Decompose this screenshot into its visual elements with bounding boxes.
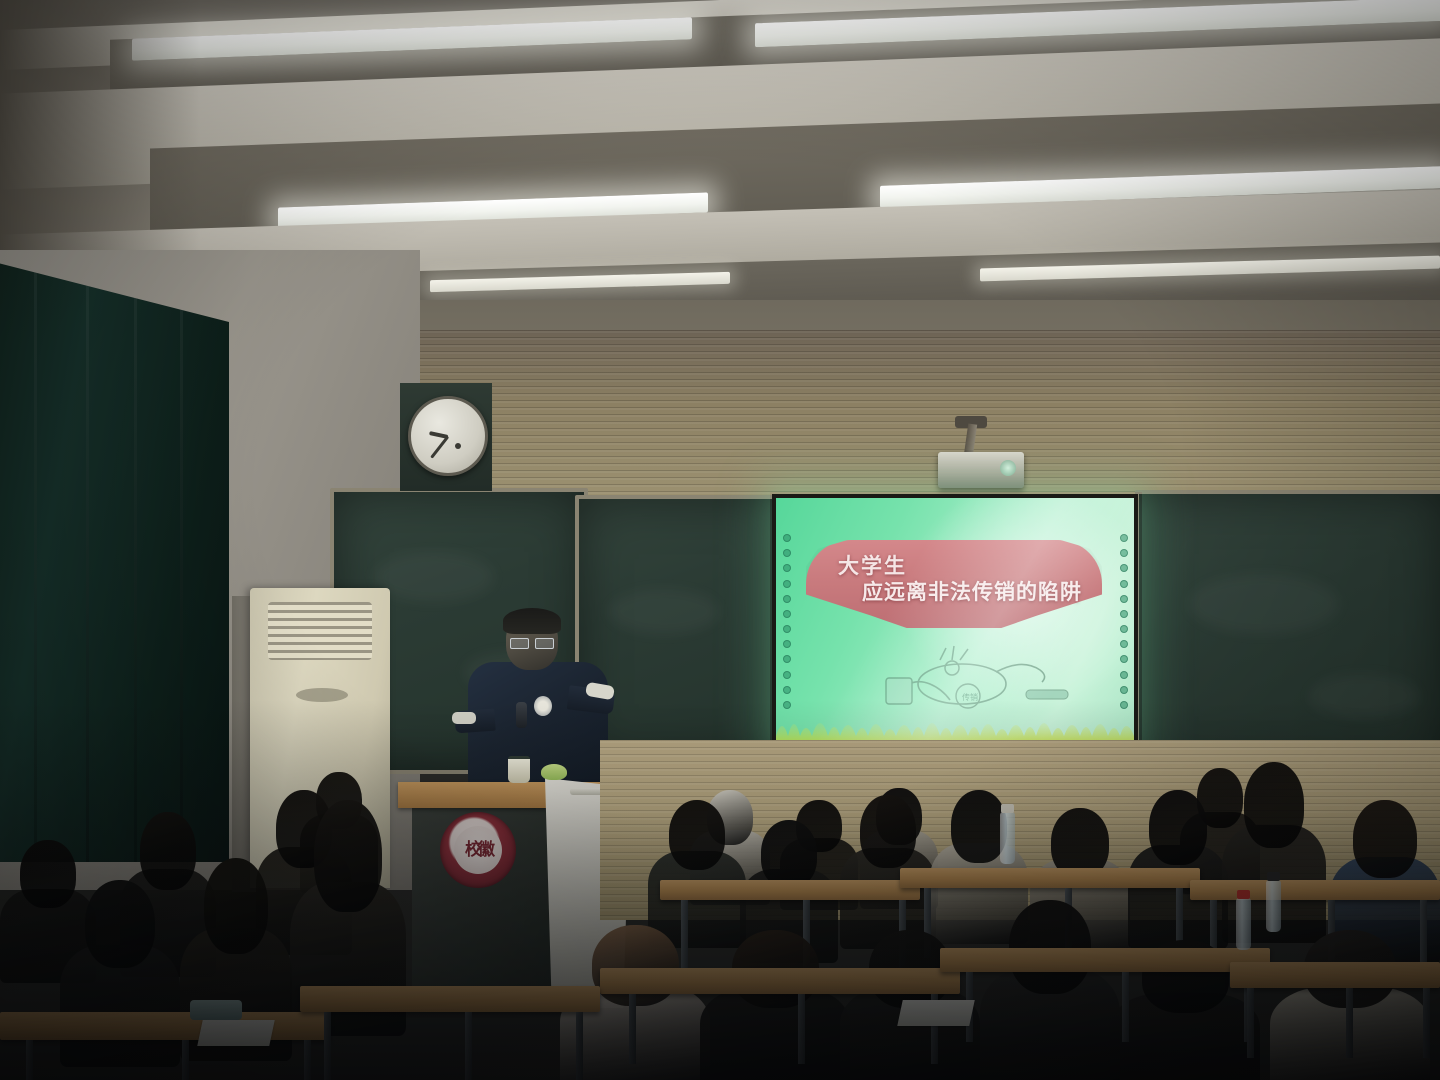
student-head (1009, 900, 1090, 994)
student-head (20, 840, 76, 908)
desk-leg (182, 1040, 189, 1080)
paper-sheet (197, 1020, 275, 1046)
student-head (1244, 762, 1304, 848)
desk-leg (629, 994, 636, 1064)
desk-leg (576, 1012, 583, 1080)
desk-leg (26, 1040, 33, 1080)
student-desk (660, 880, 920, 900)
desk-leg (324, 1012, 331, 1080)
desk-leg (465, 1012, 472, 1080)
student-desk (1190, 880, 1440, 900)
desk-leg (1122, 972, 1129, 1042)
desk-leg (1423, 988, 1430, 1058)
student-head (1149, 790, 1207, 865)
student-desk (940, 948, 1270, 972)
student-head (140, 812, 196, 890)
student-desk (1230, 962, 1440, 988)
desk-leg (1247, 988, 1254, 1058)
student-head (85, 880, 155, 968)
student-desk (900, 868, 1200, 888)
bottle-cap (1001, 804, 1014, 813)
bottle-cap (1267, 872, 1280, 881)
pencil-case (190, 1000, 242, 1020)
student-desk (0, 1012, 330, 1040)
student-head (314, 800, 381, 912)
audience (0, 0, 1440, 1080)
desk-leg (1346, 988, 1353, 1058)
bottle-cap (1237, 890, 1250, 899)
desk-leg (304, 1040, 311, 1080)
desk-leg (798, 994, 805, 1064)
water-bottle (1266, 880, 1281, 932)
student-head (860, 795, 916, 868)
paper-sheet (897, 1000, 975, 1026)
student-head (204, 858, 269, 954)
classroom-photo: 大学生 应远离非法传销的陷阱 传销 (0, 0, 1440, 1080)
student-desk (300, 986, 600, 1012)
student-desk (600, 968, 960, 994)
student-head (951, 790, 1008, 863)
desk-leg (1420, 900, 1427, 970)
water-bottle (1236, 898, 1251, 950)
desk-leg (681, 900, 688, 970)
student-head (1353, 800, 1417, 878)
student-head (761, 820, 818, 888)
student-head (669, 800, 726, 870)
water-bottle (1000, 812, 1015, 864)
